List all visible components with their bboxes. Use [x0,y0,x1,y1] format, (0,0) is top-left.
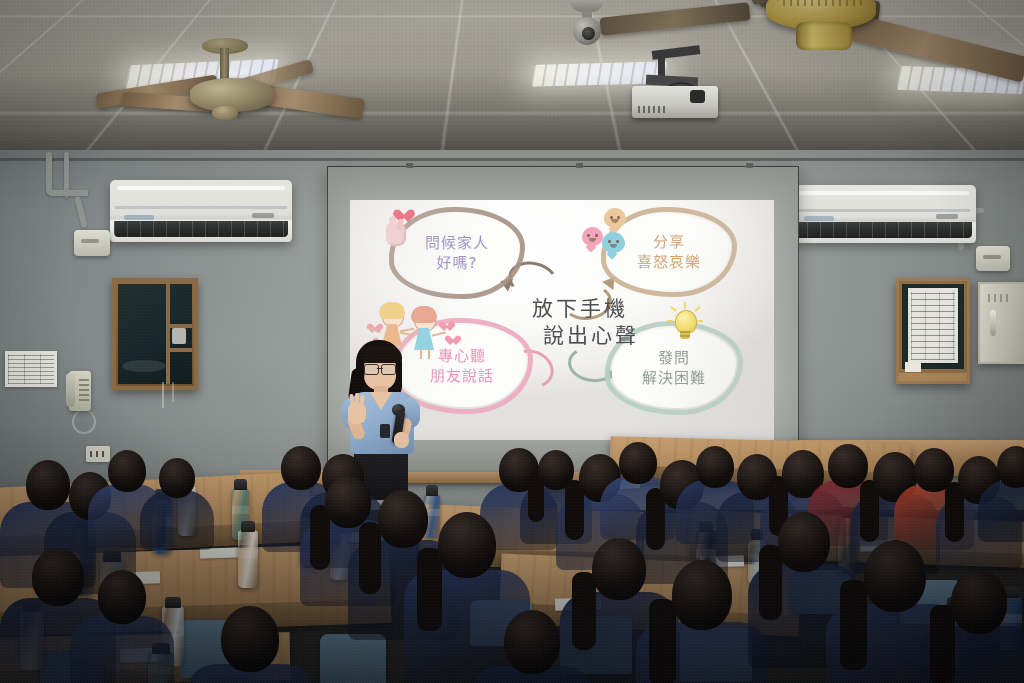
student-head [672,560,732,630]
student-ponytail [417,548,443,631]
student-head [951,570,1007,634]
student-head [997,446,1024,488]
student-head [221,606,279,672]
student [140,458,214,558]
cabinet-string [162,382,164,408]
student-head [159,458,195,498]
ceiling-fan-left [96,30,366,135]
display-cabinet [112,278,198,390]
wall-conduit [46,152,52,194]
classroom-photo: 問候家人 好嗎? 分享 喜怒哀樂 專心聽 朋友說話 [0,0,1024,683]
ceiling-projector [628,48,720,126]
student-torso [70,616,174,683]
student [918,570,1024,683]
student-head [504,610,560,674]
student-head [864,540,926,612]
electrical-junction-box [976,246,1010,271]
student-head [438,512,496,578]
whiteboard-clip [406,163,413,168]
cabinet-string [172,382,174,402]
ac-unit-right [790,185,976,243]
wall-telephone[interactable] [69,371,91,411]
security-camera-icon [568,0,606,48]
student-torso [140,490,214,550]
student-torso [978,480,1024,542]
student [470,610,594,683]
student-seating-area [0,420,1024,683]
water-bottle [238,530,258,588]
student [186,606,314,683]
student [978,446,1024,550]
wall-conduit [46,190,88,196]
ac-unit-left [110,180,292,242]
student-ponytail [649,599,675,683]
student-ponytail [759,545,782,620]
whiteboard-clip [746,163,753,168]
student-ponytail [930,605,955,683]
whiteboard-clip [576,163,583,168]
student-head [778,512,830,572]
student-head [98,570,146,624]
metal-cabinet[interactable] [978,282,1024,364]
glasses-icon [364,364,396,373]
wall-chart [5,351,57,387]
electrical-junction-box [74,230,110,256]
student-ponytail [840,580,867,670]
student [70,570,174,683]
student-ponytail [359,522,381,595]
notice-board [896,278,970,384]
